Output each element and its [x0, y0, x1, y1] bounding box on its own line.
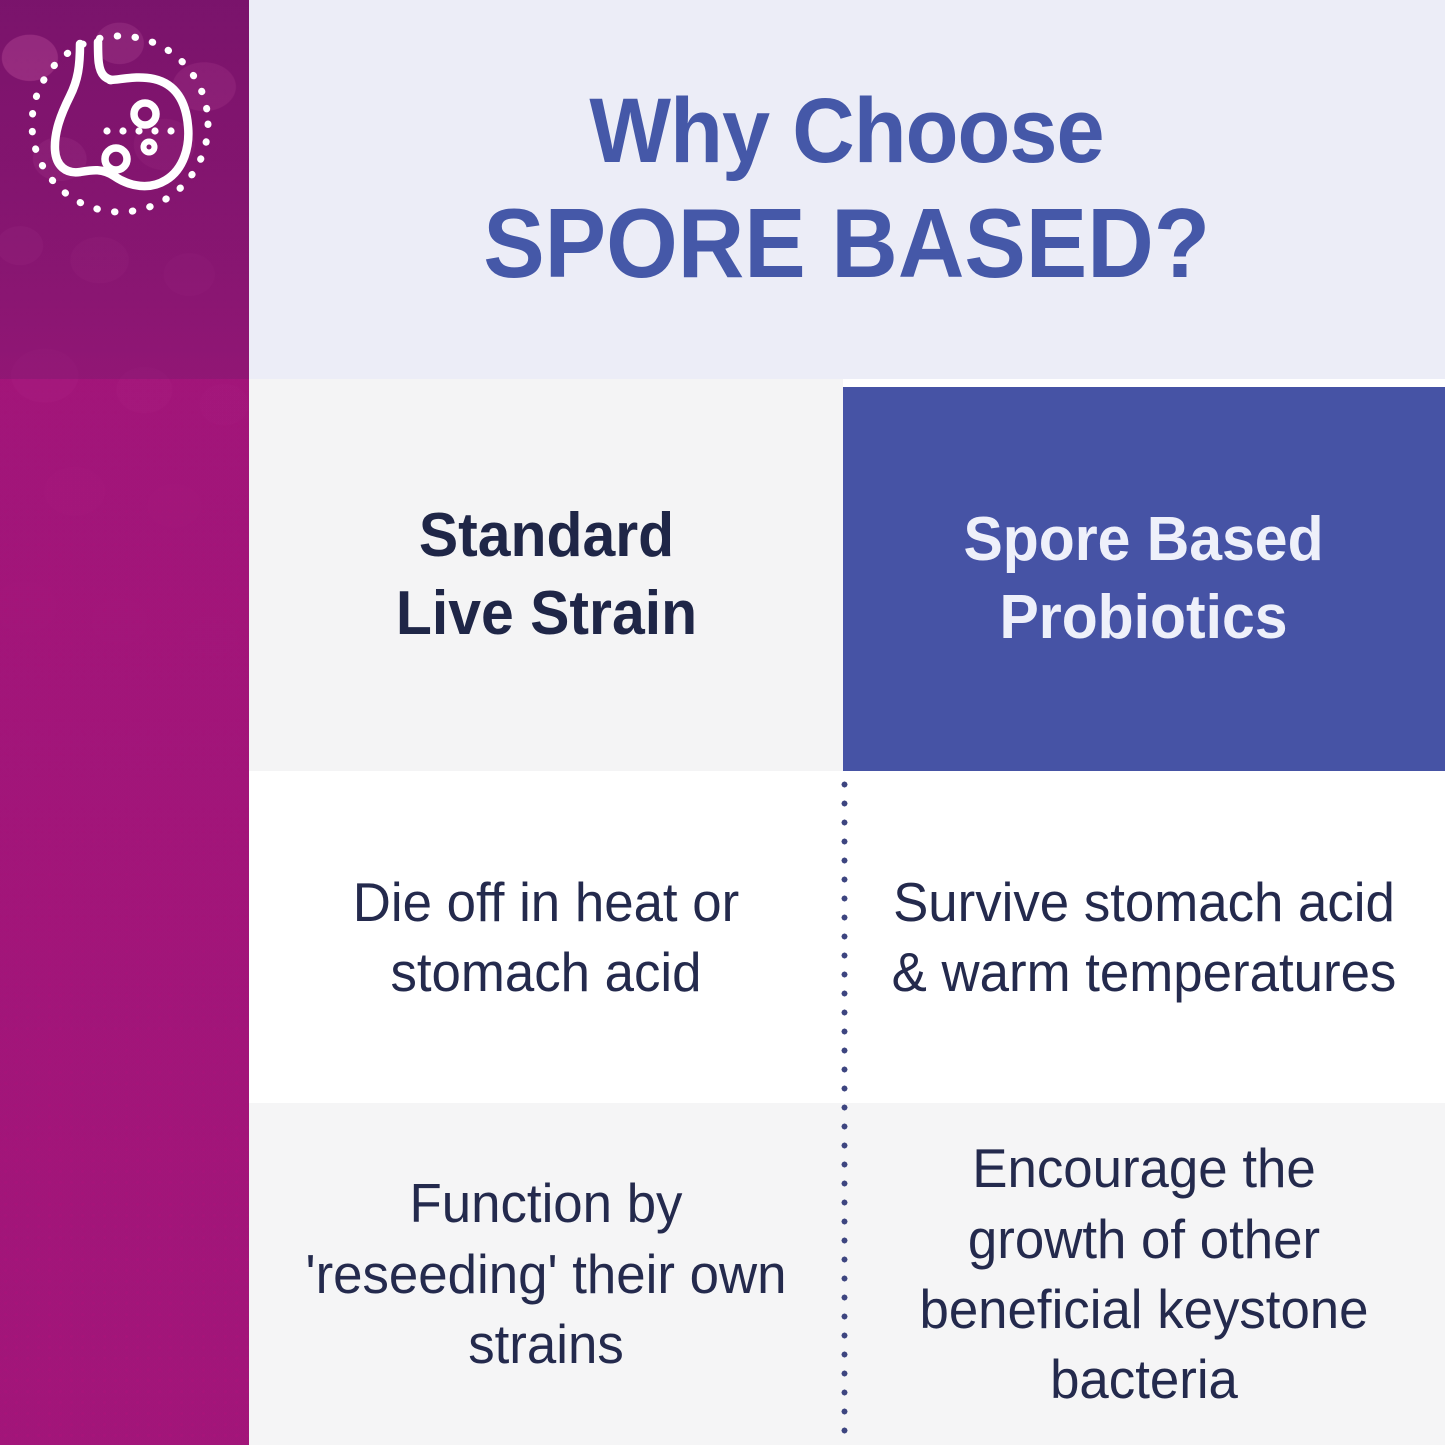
column-header-standard-line1: Standard	[418, 501, 673, 570]
headline-line-2: SPORE BASED?	[484, 186, 1211, 302]
cell-text: Encourage the growth of other beneficial…	[888, 1133, 1401, 1415]
column-header-spore-line2: Probiotics	[1000, 583, 1288, 652]
column-header-spore-based-probiotics: Spore Based Probiotics	[843, 387, 1445, 771]
column-header-spore-line1: Spore Based	[964, 505, 1324, 574]
spore-based-probiotics-infographic: Why Choose SPORE BASED? Standard Live St…	[0, 0, 1445, 1445]
column-header-spore-label: Spore Based Probiotics	[964, 501, 1324, 657]
cell-text: Die off in heat or stomach acid	[294, 867, 799, 1008]
stomach-icon	[18, 22, 223, 227]
cell-standard-survivability: Die off in heat or stomach acid	[249, 771, 843, 1103]
cell-text: Survive stomach acid & warm temperatures	[888, 867, 1401, 1008]
column-header-standard-line2: Live Strain	[395, 579, 696, 648]
headline-line-1: Why Choose	[590, 77, 1104, 186]
cell-spore-survivability: Survive stomach acid & warm temperatures	[843, 771, 1445, 1103]
cell-spore-mechanism: Encourage the growth of other beneficial…	[843, 1103, 1445, 1445]
column-header-standard-live-strain: Standard Live Strain	[249, 379, 843, 771]
headline-band: Why Choose SPORE BASED?	[249, 0, 1445, 379]
cell-standard-mechanism: Function by 'reseeding' their own strain…	[249, 1103, 843, 1445]
column-header-standard-label: Standard Live Strain	[395, 497, 696, 653]
comparison-table-header-row: Standard Live Strain Spore Based Probiot…	[249, 379, 1445, 771]
column-divider-dotted	[841, 775, 848, 1440]
cell-text: Function by 'reseeding' their own strain…	[294, 1168, 799, 1379]
comparison-table: Standard Live Strain Spore Based Probiot…	[249, 379, 1445, 1445]
